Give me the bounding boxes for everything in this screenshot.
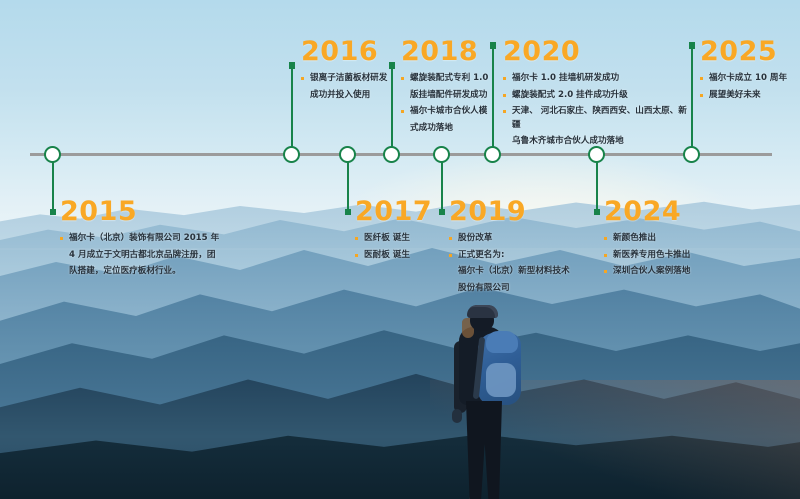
node-2024[interactable] xyxy=(588,146,605,163)
bullet-item: 福尔卡（北京）装饰有限公司 2015 年 xyxy=(60,232,240,246)
stem-2016 xyxy=(291,62,294,152)
timeline-axis xyxy=(30,153,772,156)
bullet-list-2016: 银离子洁菌板材研发 成功并投入使用 xyxy=(301,72,401,102)
bullet-item: 福尔卡（北京）新型材料技术 xyxy=(449,265,579,279)
node-2017[interactable] xyxy=(339,146,356,163)
bullet-list-2015: 福尔卡（北京）装饰有限公司 2015 年 4 月成立于文明古都北京品牌注册，团 … xyxy=(60,232,240,279)
year-label-2018: 2018 xyxy=(401,38,503,65)
hiker-figure xyxy=(432,305,542,499)
node-2019[interactable] xyxy=(433,146,450,163)
bullet-list-2020: 福尔卡 1.0 挂墙机研发成功 螺旋装配式 2.0 挂件成功升级 天津、 河北石… xyxy=(503,72,693,149)
bullet-item: 螺旋装配式 2.0 挂件成功升级 xyxy=(503,89,693,103)
stem-2017 xyxy=(347,157,350,215)
event-2017: 2017 医纤板 诞生 医耐板 诞生 xyxy=(355,198,435,265)
bullet-list-2024: 新颜色推出 新医养专用色卡推出 深圳合伙人案例落地 xyxy=(604,232,724,279)
node-2018[interactable] xyxy=(383,146,400,163)
node-2015[interactable] xyxy=(44,146,61,163)
bullet-item: 股份有限公司 xyxy=(449,282,579,296)
stem-2020 xyxy=(492,42,495,152)
event-2018: 2018 螺旋装配式专利 1.0 版挂墙配件研发成功 福尔卡城市合伙人模 式成功… xyxy=(401,38,503,138)
stem-2018 xyxy=(391,62,394,152)
bullet-item: 版挂墙配件研发成功 xyxy=(401,89,503,103)
bullet-item: 银离子洁菌板材研发 xyxy=(301,72,401,86)
bullet-item: 医纤板 诞生 xyxy=(355,232,435,246)
bullet-item: 福尔卡成立 10 周年 xyxy=(700,72,796,86)
bullet-list-2017: 医纤板 诞生 医耐板 诞生 xyxy=(355,232,435,262)
bullet-item: 队搭建，定位医疗板材行业。 xyxy=(60,265,240,279)
bullet-item: 股份改革 xyxy=(449,232,579,246)
year-label-2020: 2020 xyxy=(503,38,693,65)
year-label-2015: 2015 xyxy=(60,198,240,225)
bullet-item: 深圳合伙人案例落地 xyxy=(604,265,724,279)
node-2016[interactable] xyxy=(283,146,300,163)
event-2025: 2025 福尔卡成立 10 周年 展望美好未来 xyxy=(700,38,796,105)
stem-2025 xyxy=(691,42,694,152)
year-label-2024: 2024 xyxy=(604,198,724,225)
bullet-item: 4 月成立于文明古都北京品牌注册，团 xyxy=(60,249,240,263)
bullet-list-2019: 股份改革 正式更名为: 福尔卡（北京）新型材料技术 股份有限公司 xyxy=(449,232,579,295)
bullet-item: 医耐板 诞生 xyxy=(355,249,435,263)
hiker-hand xyxy=(452,409,462,423)
bullet-list-2025: 福尔卡成立 10 周年 展望美好未来 xyxy=(700,72,796,102)
event-2016: 2016 银离子洁菌板材研发 成功并投入使用 xyxy=(301,38,401,105)
backpack-lid xyxy=(486,331,518,353)
stem-2015 xyxy=(52,157,55,215)
year-label-2016: 2016 xyxy=(301,38,401,65)
node-2020[interactable] xyxy=(484,146,501,163)
stem-2024 xyxy=(596,157,599,215)
bullet-item: 福尔卡城市合伙人模 xyxy=(401,105,503,119)
bullet-item: 展望美好未来 xyxy=(700,89,796,103)
bullet-item: 正式更名为: xyxy=(449,249,579,263)
bullet-item: 成功并投入使用 xyxy=(301,89,401,103)
bullet-item: 螺旋装配式专利 1.0 xyxy=(401,72,503,86)
bullet-list-2018: 螺旋装配式专利 1.0 版挂墙配件研发成功 福尔卡城市合伙人模 式成功落地 xyxy=(401,72,503,135)
year-label-2025: 2025 xyxy=(700,38,796,65)
event-2024: 2024 新颜色推出 新医养专用色卡推出 深圳合伙人案例落地 xyxy=(604,198,724,282)
event-2019: 2019 股份改革 正式更名为: 福尔卡（北京）新型材料技术 股份有限公司 xyxy=(449,198,579,298)
hiker-cap xyxy=(467,305,498,318)
bullet-item: 新医养专用色卡推出 xyxy=(604,249,724,263)
bullet-item: 天津、 河北石家庄、陕西西安、山西太原、新疆 xyxy=(503,105,693,132)
node-2025[interactable] xyxy=(683,146,700,163)
backpack-pocket xyxy=(486,363,516,397)
year-label-2017: 2017 xyxy=(355,198,435,225)
bullet-item: 福尔卡 1.0 挂墙机研发成功 xyxy=(503,72,693,86)
stem-2019 xyxy=(441,157,444,215)
bullet-item: 新颜色推出 xyxy=(604,232,724,246)
hiker-legs xyxy=(466,401,502,499)
bullet-item: 式成功落地 xyxy=(401,122,503,136)
event-2015: 2015 福尔卡（北京）装饰有限公司 2015 年 4 月成立于文明古都北京品牌… xyxy=(60,198,240,282)
event-2020: 2020 福尔卡 1.0 挂墙机研发成功 螺旋装配式 2.0 挂件成功升级 天津… xyxy=(503,38,693,152)
timeline-infographic: 2016 银离子洁菌板材研发 成功并投入使用 2018 螺旋装配式专利 1.0 … xyxy=(0,0,800,499)
year-label-2019: 2019 xyxy=(449,198,579,225)
